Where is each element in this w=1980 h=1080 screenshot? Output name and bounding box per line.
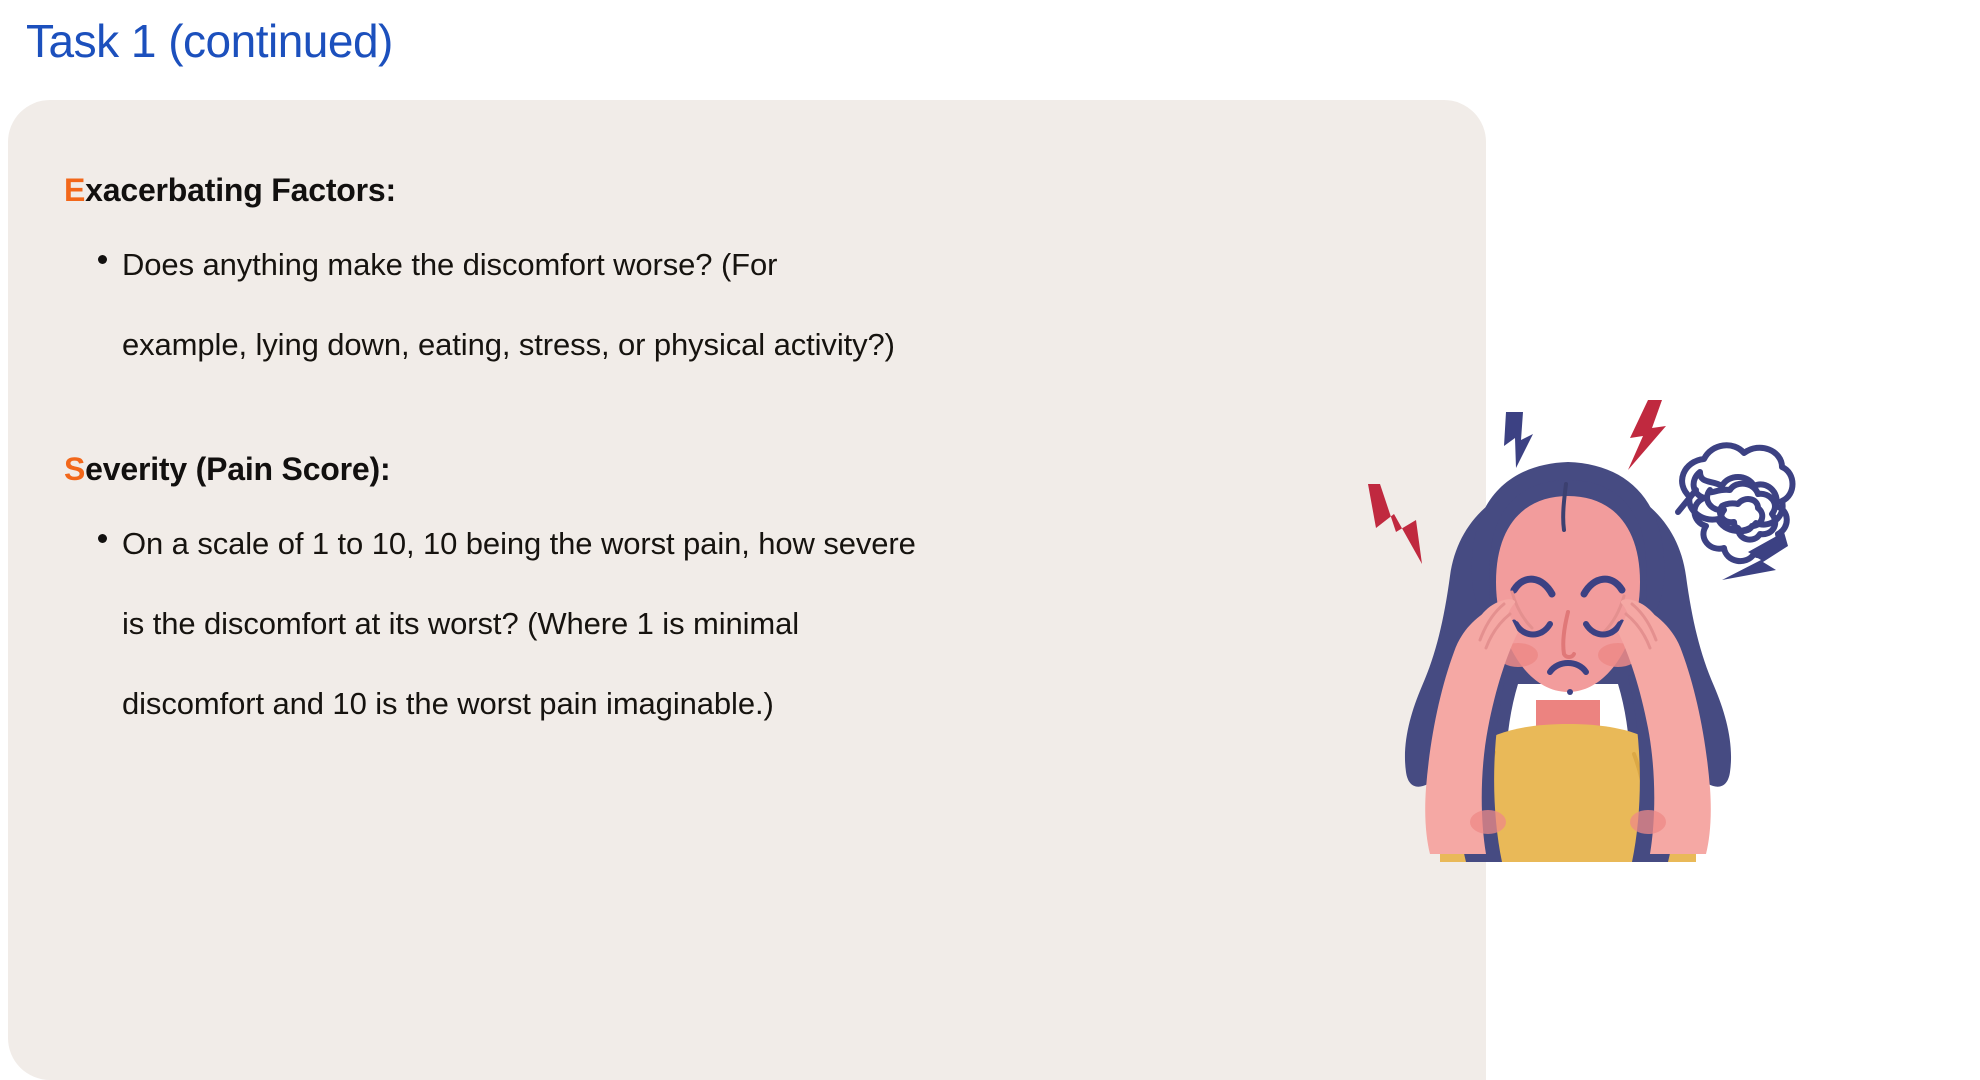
card-content: Exacerbating Factors: Does anything make… — [64, 172, 1244, 750]
bullet-line: On a scale of 1 to 10, 10 being the wors… — [122, 504, 1244, 584]
section-exacerbating-factors: Exacerbating Factors: Does anything make… — [64, 172, 1244, 385]
bullet-list: Does anything make the discomfort worse?… — [64, 225, 1244, 385]
elbow-left — [1470, 810, 1506, 834]
section-heading-text: xacerbating Factors: — [85, 172, 396, 208]
list-item: Does anything make the discomfort worse?… — [64, 225, 1244, 385]
bullet-line: Does anything make the discomfort worse?… — [122, 225, 1244, 305]
bullet-list: On a scale of 1 to 10, 10 being the wors… — [64, 504, 1244, 744]
elbow-right — [1630, 810, 1666, 834]
bullet-dot-icon — [98, 534, 107, 543]
bullet-line: example, lying down, eating, stress, or … — [122, 305, 1244, 385]
bullet-dot-icon — [98, 255, 107, 264]
list-item: On a scale of 1 to 10, 10 being the wors… — [64, 504, 1244, 744]
woman-with-headache-illustration — [1318, 372, 1818, 862]
chin-dot — [1567, 689, 1573, 695]
content-card: Exacerbating Factors: Does anything make… — [8, 100, 1486, 1080]
section-heading-text: everity (Pain Score): — [85, 451, 390, 487]
lightning-bolt-red-top — [1628, 400, 1666, 470]
bullet-line: discomfort and 10 is the worst pain imag… — [122, 664, 1244, 744]
section-severity-pain-score: Severity (Pain Score): On a scale of 1 t… — [64, 451, 1244, 744]
section-heading: Exacerbating Factors: — [64, 172, 1244, 209]
lightning-bolt-navy-top — [1504, 412, 1533, 468]
page-title: Task 1 (continued) — [26, 14, 393, 68]
lightning-bolt-red-left — [1368, 484, 1422, 564]
section-heading: Severity (Pain Score): — [64, 451, 1244, 488]
accent-letter: E — [64, 172, 85, 208]
bullet-line: is the discomfort at its worst? (Where 1… — [122, 584, 1244, 664]
accent-letter: S — [64, 451, 85, 487]
